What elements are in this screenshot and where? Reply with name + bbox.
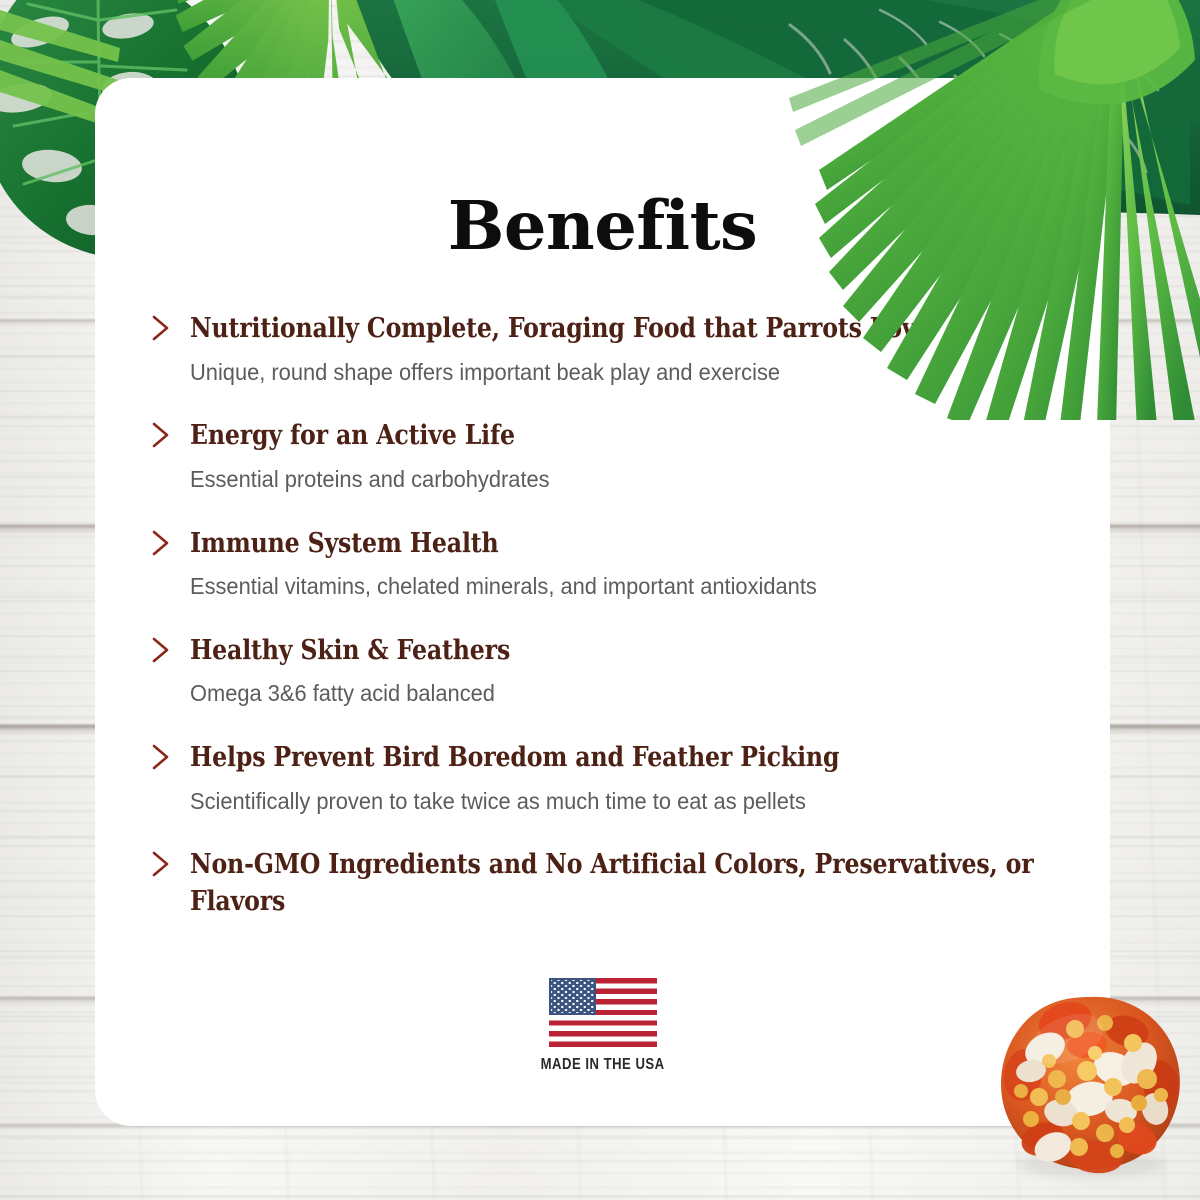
benefits-card: Benefits Nutritionally Complete, Foragin… bbox=[95, 78, 1110, 1126]
benefit-item: Non-GMO Ingredients and No Artificial Co… bbox=[150, 846, 1080, 919]
page-title: Benefits bbox=[95, 186, 1110, 265]
benefit-heading: Nutritionally Complete, Foraging Food th… bbox=[190, 310, 955, 347]
chevron-right-icon bbox=[150, 743, 172, 771]
benefit-item: Healthy Skin & Feathers Omega 3&6 fatty … bbox=[150, 632, 1080, 710]
benefit-heading: Immune System Health bbox=[190, 525, 955, 562]
chevron-right-icon bbox=[150, 421, 172, 449]
made-in-usa-badge: MADE IN THE USA bbox=[95, 978, 1110, 1074]
benefit-subtext: Scientifically proven to take twice as m… bbox=[190, 786, 1018, 818]
benefit-subtext: Unique, round shape offers important bea… bbox=[190, 357, 1018, 389]
chevron-right-icon bbox=[150, 636, 172, 664]
benefit-item: Immune System Health Essential vitamins,… bbox=[150, 525, 1080, 603]
chevron-right-icon bbox=[150, 850, 172, 878]
benefit-subtext: Essential proteins and carbohydrates bbox=[190, 464, 1018, 496]
chevron-right-icon bbox=[150, 314, 172, 342]
chevron-right-icon bbox=[150, 529, 172, 557]
benefit-heading: Non-GMO Ingredients and No Artificial Co… bbox=[190, 846, 1078, 919]
flag-canton bbox=[549, 978, 596, 1015]
benefit-heading: Helps Prevent Bird Boredom and Feather P… bbox=[190, 739, 955, 776]
benefit-subtext: Essential vitamins, chelated minerals, a… bbox=[190, 571, 1018, 603]
us-flag-icon bbox=[549, 978, 657, 1047]
flag-stars-offset bbox=[551, 980, 594, 1013]
benefit-subtext: Omega 3&6 fatty acid balanced bbox=[190, 678, 1018, 710]
benefit-heading: Healthy Skin & Feathers bbox=[190, 632, 955, 669]
benefits-list: Nutritionally Complete, Foraging Food th… bbox=[150, 310, 1080, 922]
benefit-heading: Energy for an Active Life bbox=[190, 417, 955, 454]
benefit-item: Helps Prevent Bird Boredom and Feather P… bbox=[150, 739, 1080, 817]
made-in-usa-label: MADE IN THE USA bbox=[540, 1056, 664, 1074]
benefit-item: Nutritionally Complete, Foraging Food th… bbox=[150, 310, 1080, 388]
benefit-item: Energy for an Active Life Essential prot… bbox=[150, 417, 1080, 495]
